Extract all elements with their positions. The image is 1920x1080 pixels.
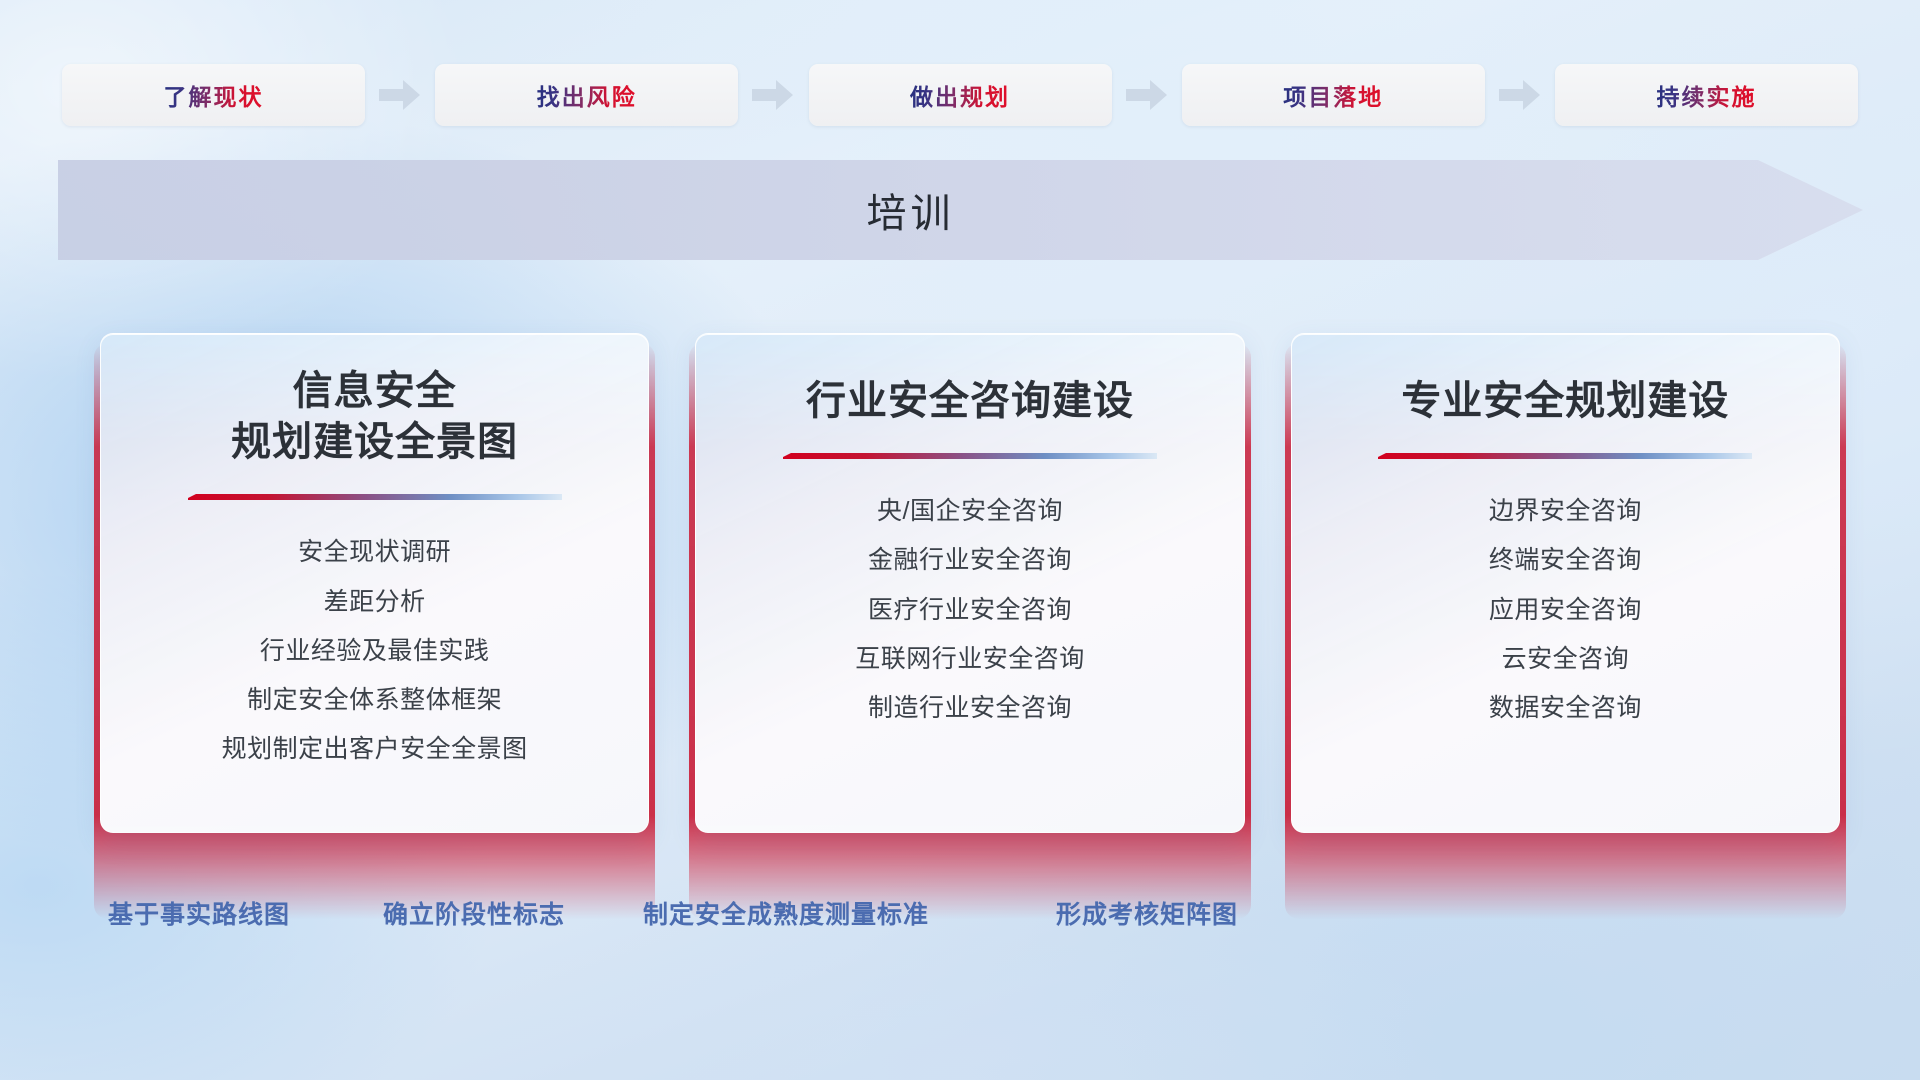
card-item-list: 边界安全咨询 终端安全咨询 应用安全咨询 云安全咨询 数据安全咨询 (1292, 491, 1839, 729)
banner-label: 培训 (58, 160, 1763, 260)
step-label: 找出风险 (537, 78, 637, 112)
list-item: 央/国企安全咨询 (877, 491, 1063, 532)
list-item: 终端安全咨询 (1489, 540, 1642, 581)
card-divider (188, 494, 562, 508)
process-step-row: 了解现状 找出风险 做出规划 项目落地 持续实施 (62, 64, 1858, 126)
list-item: 互联网行业安全咨询 (855, 639, 1085, 680)
card-2[interactable]: 行业安全咨询建设 (695, 333, 1244, 833)
step-connector-3 (1112, 64, 1182, 126)
right-arrow-icon (752, 79, 794, 111)
step-label: 持续实施 (1657, 78, 1757, 112)
list-item: 制造行业安全咨询 (868, 688, 1072, 729)
card-item-list: 安全现状调研 差距分析 行业经验及最佳实践 制定安全体系整体框架 规划制定出客户… (101, 532, 648, 770)
card-3[interactable]: 专业安全规划建设 (1291, 333, 1840, 833)
divider-shape (783, 453, 1157, 467)
step-connector-4 (1485, 64, 1555, 126)
list-item: 金融行业安全咨询 (868, 540, 1072, 581)
step-label: 项目落地 (1283, 78, 1383, 112)
card-row: 信息安全 规划建设全景图 (100, 333, 1840, 873)
caption-3: 制定安全成熟度测量标准 (643, 895, 929, 931)
card-title: 信息安全 规划建设全景图 (231, 366, 518, 468)
right-arrow-icon (1499, 79, 1541, 111)
card-wrapper-3: 专业安全规划建设 (1291, 333, 1840, 873)
list-item: 边界安全咨询 (1489, 491, 1642, 532)
card-item-list: 央/国企安全咨询 金融行业安全咨询 医疗行业安全咨询 互联网行业安全咨询 制造行… (696, 491, 1243, 729)
right-arrow-icon (379, 79, 421, 111)
list-item: 医疗行业安全咨询 (868, 590, 1072, 631)
right-arrow-icon (1126, 79, 1168, 111)
step-box-3[interactable]: 做出规划 (809, 64, 1112, 126)
step-label: 做出规划 (910, 78, 1010, 112)
card-title: 专业安全规划建设 (1401, 376, 1729, 427)
card-title: 行业安全咨询建设 (806, 376, 1134, 427)
card-divider (1378, 453, 1752, 467)
list-item: 安全现状调研 (298, 532, 451, 573)
step-box-1[interactable]: 了解现状 (62, 64, 365, 126)
list-item: 数据安全咨询 (1489, 688, 1642, 729)
caption-row: 基于事实路线图 确立阶段性标志 制定安全成熟度测量标准 形成考核矩阵图 (0, 895, 1920, 955)
caption-1: 基于事实路线图 (108, 895, 290, 931)
step-connector-1 (365, 64, 435, 126)
list-item: 行业经验及最佳实践 (260, 631, 490, 672)
step-connector-2 (738, 64, 808, 126)
list-item: 规划制定出客户安全全景图 (222, 729, 528, 770)
step-label: 了解现状 (164, 78, 264, 112)
training-banner: 培训 (58, 160, 1863, 260)
list-item: 差距分析 (324, 582, 426, 623)
divider-shape (188, 494, 562, 508)
step-box-5[interactable]: 持续实施 (1555, 64, 1858, 126)
caption-2: 确立阶段性标志 (383, 895, 565, 931)
list-item: 云安全咨询 (1502, 639, 1630, 680)
list-item: 应用安全咨询 (1489, 590, 1642, 631)
card-divider (783, 453, 1157, 467)
card-1[interactable]: 信息安全 规划建设全景图 (100, 333, 649, 833)
step-box-2[interactable]: 找出风险 (435, 64, 738, 126)
card-wrapper-2: 行业安全咨询建设 (695, 333, 1244, 873)
caption-4: 形成考核矩阵图 (1056, 895, 1238, 931)
step-box-4[interactable]: 项目落地 (1182, 64, 1485, 126)
list-item: 制定安全体系整体框架 (247, 680, 502, 721)
card-wrapper-1: 信息安全 规划建设全景图 (100, 333, 649, 873)
divider-shape (1378, 453, 1752, 467)
